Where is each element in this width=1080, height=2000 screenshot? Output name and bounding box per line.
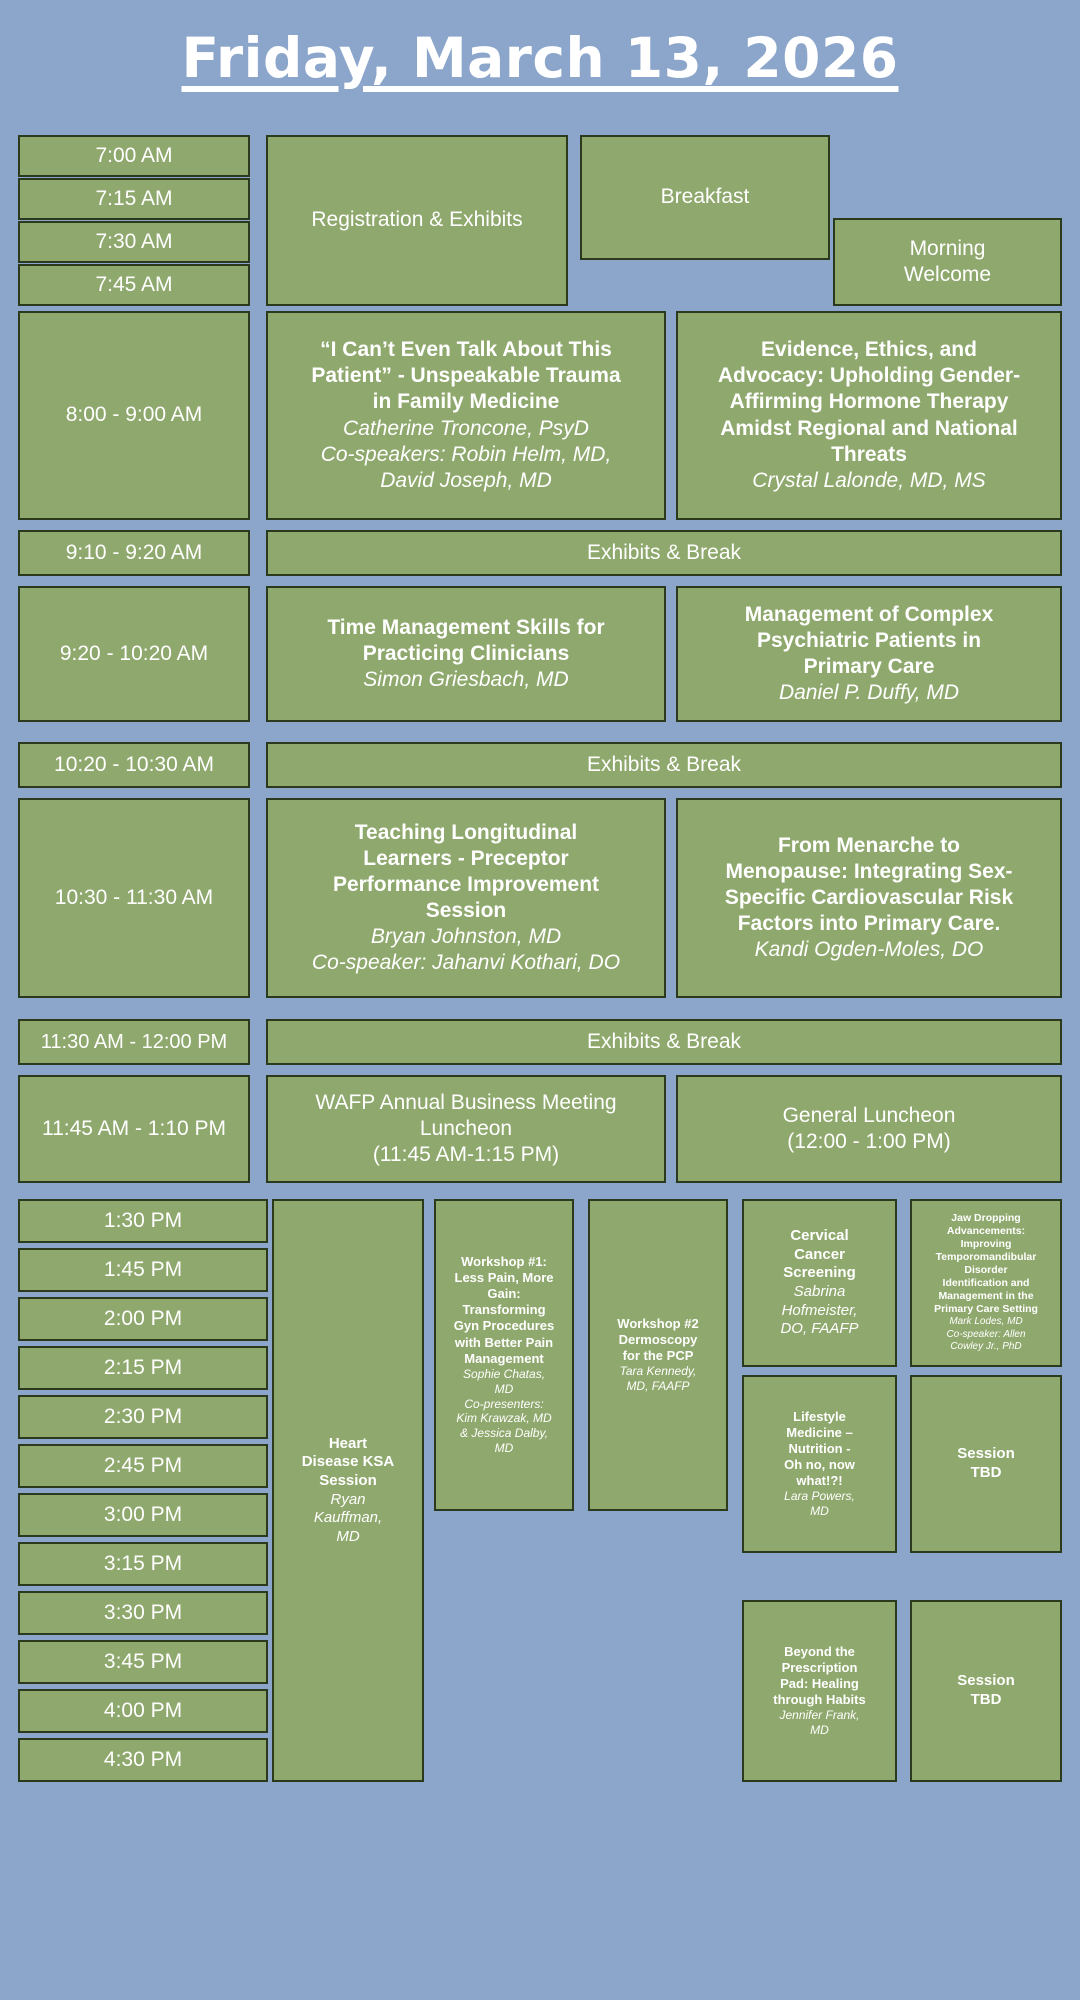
- session-speaker-line: & Jessica Dalby,: [460, 1426, 548, 1441]
- event-label-line: WAFP Annual Business Meeting: [315, 1090, 616, 1116]
- session-title-line: Management in the: [938, 1290, 1033, 1303]
- time-label: 2:30 PM: [104, 1404, 182, 1430]
- session-title-line: Specific Cardiovascular Risk: [725, 885, 1013, 911]
- session-time-management-skills[interactable]: Time Management Skills for Practicing Cl…: [266, 586, 666, 722]
- session-title-line: Nutrition -: [788, 1441, 850, 1457]
- time-slot-0430pm: 4:30 PM: [18, 1738, 268, 1782]
- time-slot-0200pm: 2:00 PM: [18, 1297, 268, 1341]
- time-label: 11:45 AM - 1:10 PM: [42, 1116, 226, 1142]
- session-speaker-line: Cowley Jr., PhD: [950, 1341, 1021, 1353]
- time-label: 7:30 AM: [95, 229, 172, 255]
- time-label: 10:20 - 10:30 AM: [54, 752, 214, 778]
- session-title-line: Less Pain, More: [455, 1270, 554, 1286]
- time-slot-0800-0900: 8:00 - 9:00 AM: [18, 311, 250, 520]
- session-speaker-line: Daniel P. Duffy, MD: [779, 680, 959, 706]
- session-title-line: Medicine –: [786, 1425, 852, 1441]
- session-speaker-line: Kim Krawzak, MD: [456, 1411, 551, 1426]
- session-title-line: Identification and: [943, 1277, 1030, 1290]
- time-slot-0230pm: 2:30 PM: [18, 1395, 268, 1439]
- session-title-line: Cervical: [790, 1227, 848, 1246]
- session-speaker-line: MD: [336, 1528, 359, 1547]
- event-label-line: (12:00 - 1:00 PM): [787, 1129, 950, 1155]
- session-title-line: Management: [464, 1351, 543, 1367]
- session-speaker-line: Crystal Lalonde, MD, MS: [752, 468, 985, 494]
- session-title-line: Amidst Regional and National: [720, 416, 1018, 442]
- session-speaker-line: Tara Kennedy,: [620, 1364, 697, 1379]
- time-label: 7:00 AM: [95, 143, 172, 169]
- session-title-line: Heart: [329, 1435, 367, 1454]
- session-unspeakable-trauma[interactable]: “I Can’t Even Talk About This Patient” -…: [266, 311, 666, 520]
- event-exhibits-break-1: Exhibits & Break: [266, 530, 1062, 576]
- time-label: 10:30 - 11:30 AM: [55, 885, 213, 911]
- time-slot-0920-1020: 9:20 - 10:20 AM: [18, 586, 250, 722]
- session-title-line: Disease KSA: [302, 1453, 395, 1472]
- time-slot-0245pm: 2:45 PM: [18, 1444, 268, 1488]
- page-title: Friday, March 13, 2026: [0, 26, 1080, 90]
- session-complex-psychiatric-patients[interactable]: Management of Complex Psychiatric Patien…: [676, 586, 1062, 722]
- session-title-line: Pad: Healing: [780, 1676, 859, 1692]
- event-exhibits-break-3: Exhibits & Break: [266, 1019, 1062, 1065]
- session-title-line: Disorder: [964, 1264, 1007, 1277]
- time-slot-0130pm: 1:30 PM: [18, 1199, 268, 1243]
- time-label: 1:45 PM: [104, 1257, 182, 1283]
- time-slot-0700: 7:00 AM: [18, 135, 250, 177]
- session-speaker-line: David Joseph, MD: [380, 468, 552, 494]
- session-title-line: Session: [319, 1472, 377, 1491]
- session-title-line: Menopause: Integrating Sex-: [725, 859, 1012, 885]
- event-exhibits-break-2: Exhibits & Break: [266, 742, 1062, 788]
- event-label: Exhibits & Break: [587, 1029, 741, 1055]
- session-cervical-cancer-screening[interactable]: Cervical Cancer Screening Sabrina Hofmei…: [742, 1199, 897, 1367]
- session-speaker-line: Kauffman,: [314, 1509, 382, 1528]
- session-title-line: Oh no, now: [784, 1457, 855, 1473]
- event-label: Exhibits & Break: [587, 752, 741, 778]
- time-label: 3:45 PM: [104, 1649, 182, 1675]
- time-label: 3:00 PM: [104, 1502, 182, 1528]
- session-speaker-line: Jennifer Frank,: [779, 1708, 859, 1723]
- time-slot-0745: 7:45 AM: [18, 264, 250, 306]
- session-heart-disease-ksa[interactable]: Heart Disease KSA Session Ryan Kauffman,…: [272, 1199, 424, 1782]
- time-label: 7:45 AM: [95, 272, 172, 298]
- session-title-line: Management of Complex: [745, 602, 994, 628]
- session-title-line: Session: [957, 1445, 1015, 1464]
- event-label-line: (11:45 AM-1:15 PM): [373, 1142, 559, 1168]
- session-speaker-line: MD, FAAFP: [626, 1379, 689, 1394]
- event-breakfast: Breakfast: [580, 135, 830, 260]
- session-gender-affirming-hormone-therapy[interactable]: Evidence, Ethics, and Advocacy: Upholdin…: [676, 311, 1062, 520]
- event-label-line2: Welcome: [904, 262, 991, 288]
- session-title-line: Practicing Clinicians: [363, 641, 570, 667]
- session-title-line: what!?!: [796, 1473, 842, 1489]
- session-title-line: Teaching Longitudinal: [355, 820, 577, 846]
- time-slot-0330pm: 3:30 PM: [18, 1591, 268, 1635]
- session-title-line: for the PCP: [623, 1348, 694, 1364]
- session-title-line: Gyn Procedures: [454, 1318, 554, 1334]
- session-title-line: Dermoscopy: [619, 1332, 698, 1348]
- session-title-line: Lifestyle: [793, 1409, 846, 1425]
- time-slot-0315pm: 3:15 PM: [18, 1542, 268, 1586]
- time-label: 2:00 PM: [104, 1306, 182, 1332]
- session-speaker-line: Co-presenters:: [464, 1397, 543, 1412]
- time-label: 2:15 PM: [104, 1355, 182, 1381]
- session-title-line: Gain:: [487, 1286, 520, 1302]
- time-slot-0145pm: 1:45 PM: [18, 1248, 268, 1292]
- session-speaker-line: Kandi Ogden-Moles, DO: [755, 937, 984, 963]
- session-speaker-line: MD: [495, 1441, 514, 1456]
- time-slot-0345pm: 3:45 PM: [18, 1640, 268, 1684]
- session-title-line: Affirming Hormone Therapy: [730, 389, 1009, 415]
- session-title-line: Cancer: [794, 1246, 845, 1265]
- session-speaker-line: DO, FAAFP: [780, 1320, 858, 1339]
- time-slot-1130-1200: 11:30 AM - 12:00 PM: [18, 1019, 250, 1065]
- session-jaw-dropping-advancements[interactable]: Jaw Dropping Advancements: Improving Tem…: [910, 1199, 1062, 1367]
- session-title-line: “I Can’t Even Talk About This: [320, 337, 612, 363]
- event-label: Registration & Exhibits: [311, 207, 522, 233]
- session-title-line: Session: [426, 898, 507, 924]
- time-slot-0215pm: 2:15 PM: [18, 1346, 268, 1390]
- session-speaker-line: Ryan: [330, 1491, 365, 1510]
- time-label: 4:00 PM: [104, 1698, 182, 1724]
- time-slot-1020-1030: 10:20 - 10:30 AM: [18, 742, 250, 788]
- session-speaker-line: MD: [810, 1723, 829, 1738]
- session-speaker-line: MD: [495, 1382, 514, 1397]
- time-slot-0730: 7:30 AM: [18, 221, 250, 263]
- time-label: 7:15 AM: [95, 186, 172, 212]
- event-label: Exhibits & Break: [587, 540, 741, 566]
- session-speaker-line: Bryan Johnston, MD: [371, 924, 561, 950]
- session-teaching-longitudinal-learners[interactable]: Teaching Longitudinal Learners - Precept…: [266, 798, 666, 998]
- session-speaker-line: Co-speaker: Jahanvi Kothari, DO: [312, 950, 620, 976]
- event-label: Breakfast: [661, 184, 750, 210]
- session-title-line: in Family Medicine: [373, 389, 560, 415]
- time-label: 9:10 - 9:20 AM: [66, 540, 203, 566]
- session-speaker-line: Co-speaker: Allen: [946, 1329, 1025, 1341]
- session-speaker-line: Hofmeister,: [782, 1302, 858, 1321]
- event-label-line1: Morning: [910, 236, 986, 262]
- time-label: 11:30 AM - 12:00 PM: [41, 1030, 227, 1055]
- time-slot-0715: 7:15 AM: [18, 178, 250, 220]
- event-label-line: General Luncheon: [783, 1103, 956, 1129]
- time-slot-0400pm: 4:00 PM: [18, 1689, 268, 1733]
- time-label: 8:00 - 9:00 AM: [66, 402, 203, 428]
- session-speaker-line: Sophie Chatas,: [463, 1367, 545, 1382]
- session-title-line: Performance Improvement: [333, 872, 599, 898]
- time-label: 3:30 PM: [104, 1600, 182, 1626]
- event-registration-exhibits: Registration & Exhibits: [266, 135, 568, 306]
- session-speaker-line: Sabrina: [794, 1283, 846, 1302]
- session-title-line: through Habits: [773, 1692, 865, 1708]
- session-tbd-upper[interactable]: Session TBD: [910, 1375, 1062, 1553]
- session-title-line: Threats: [831, 442, 907, 468]
- session-workshop-2-dermoscopy[interactable]: Workshop #2 Dermoscopy for the PCP Tara …: [588, 1199, 728, 1511]
- session-title-line: Factors into Primary Care.: [738, 911, 1001, 937]
- session-title-line: Session: [957, 1672, 1015, 1691]
- session-speaker-line: Catherine Troncone, PsyD: [343, 416, 589, 442]
- session-workshop-1-gyn-procedures[interactable]: Workshop #1: Less Pain, More Gain: Trans…: [434, 1199, 574, 1511]
- session-lifestyle-medicine-nutrition[interactable]: Lifestyle Medicine – Nutrition - Oh no, …: [742, 1375, 897, 1553]
- time-slot-0910-0920: 9:10 - 9:20 AM: [18, 530, 250, 576]
- session-title-line: TBD: [971, 1464, 1002, 1483]
- session-title-line: Learners - Preceptor: [363, 846, 568, 872]
- session-title-line: Workshop #1:: [461, 1254, 547, 1270]
- time-slot-0300pm: 3:00 PM: [18, 1493, 268, 1537]
- session-title-line: Prescription: [782, 1660, 858, 1676]
- session-title-line: Beyond the: [784, 1644, 855, 1660]
- time-label: 4:30 PM: [104, 1747, 182, 1773]
- session-tbd-lower[interactable]: Session TBD: [910, 1600, 1062, 1782]
- session-speaker-line: Co-speakers: Robin Helm, MD,: [321, 442, 612, 468]
- session-title-line: TBD: [971, 1691, 1002, 1710]
- session-title-line: Time Management Skills for: [327, 615, 604, 641]
- session-speaker-line: MD: [810, 1504, 829, 1519]
- session-title-line: Primary Care: [804, 654, 935, 680]
- schedule-page: Friday, March 13, 2026 7:00 AM 7:15 AM 7…: [0, 0, 1080, 2000]
- session-speaker-line: Lara Powers,: [784, 1489, 855, 1504]
- session-title-line: Transforming: [462, 1302, 545, 1318]
- session-title-line: Advancements:: [947, 1225, 1025, 1238]
- session-speaker-line: Simon Griesbach, MD: [363, 667, 568, 693]
- time-label: 1:30 PM: [104, 1208, 182, 1234]
- session-title-line: Screening: [783, 1264, 856, 1283]
- time-slot-1145-0110: 11:45 AM - 1:10 PM: [18, 1075, 250, 1183]
- session-title-line: Improving: [961, 1238, 1012, 1251]
- session-title-line: From Menarche to: [778, 833, 960, 859]
- session-title-line: Advocacy: Upholding Gender-: [718, 363, 1020, 389]
- session-title-line: Patient” - Unspeakable Trauma: [311, 363, 620, 389]
- session-title-line: Jaw Dropping: [951, 1212, 1020, 1225]
- time-label: 2:45 PM: [104, 1453, 182, 1479]
- time-slot-1030-1130: 10:30 - 11:30 AM: [18, 798, 250, 998]
- session-title-line: Temporomandibular: [936, 1251, 1037, 1264]
- event-wafp-business-meeting-luncheon: WAFP Annual Business Meeting Luncheon (1…: [266, 1075, 666, 1183]
- time-label: 3:15 PM: [104, 1551, 182, 1577]
- session-title-line: Psychiatric Patients in: [757, 628, 981, 654]
- event-morning-welcome: Morning Welcome: [833, 218, 1062, 306]
- time-label: 9:20 - 10:20 AM: [60, 641, 208, 667]
- session-menarche-to-menopause[interactable]: From Menarche to Menopause: Integrating …: [676, 798, 1062, 998]
- session-beyond-prescription-pad[interactable]: Beyond the Prescription Pad: Healing thr…: [742, 1600, 897, 1782]
- event-label-line: Luncheon: [420, 1116, 512, 1142]
- event-general-luncheon: General Luncheon (12:00 - 1:00 PM): [676, 1075, 1062, 1183]
- session-speaker-line: Mark Lodes, MD: [949, 1316, 1022, 1328]
- session-title-line: with Better Pain: [455, 1335, 553, 1351]
- session-title-line: Evidence, Ethics, and: [761, 337, 977, 363]
- session-title-line: Workshop #2: [617, 1316, 698, 1332]
- session-title-line: Primary Care Setting: [934, 1303, 1038, 1316]
